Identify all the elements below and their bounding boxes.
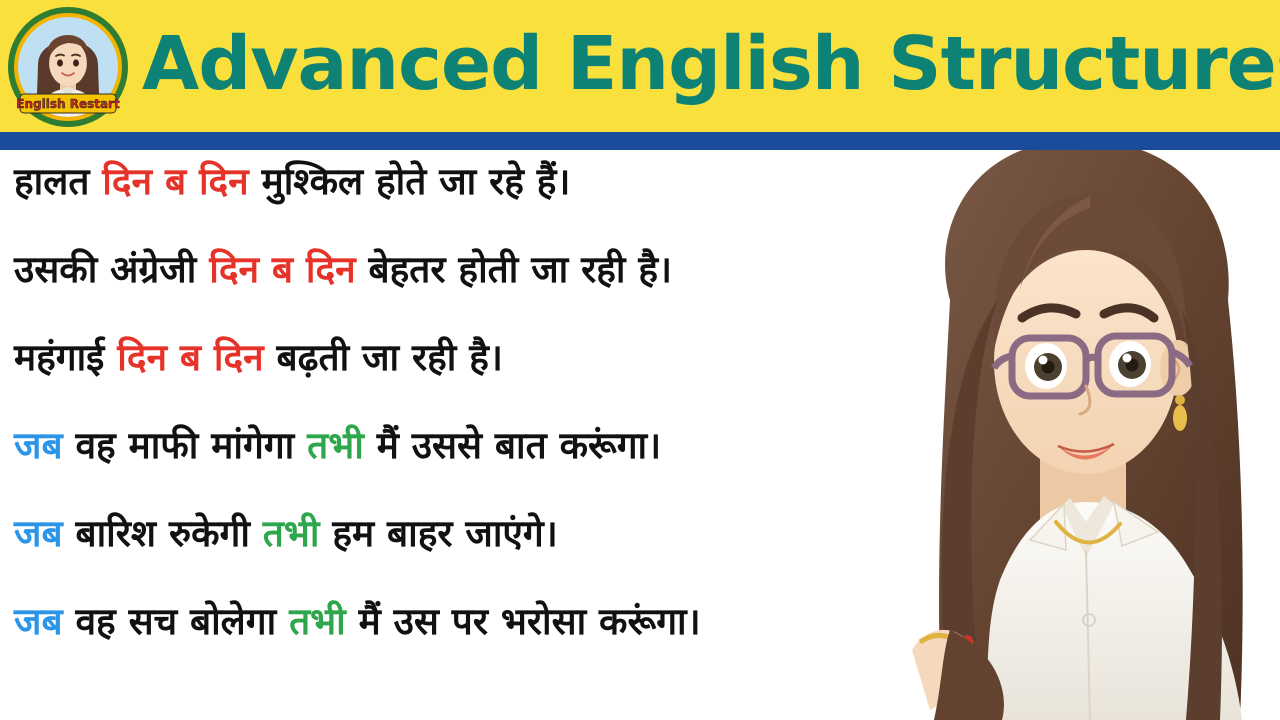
header-divider [0,132,1280,150]
sentence-1-part-3: मुश्किल होते जा रहे हैं। [249,160,571,203]
header-bar: English Restart Advanced English Structu… [0,0,1280,132]
logo-brand-label: English Restart [16,97,120,111]
sentence-line-1: हालत दिन ब दिन मुश्किल होते जा रहे हैं। [14,162,1074,202]
sentence-3-part-1: महंगाई [14,336,117,379]
content-area: हालत दिन ब दिन मुश्किल होते जा रहे हैं। … [0,150,1280,720]
sentence-5-highlight-green: तभी [263,512,320,555]
sentence-3-part-3: बढ़ती जा रही है। [264,336,503,379]
channel-logo: English Restart [6,5,130,129]
sentence-2-part-3: बेहतर होती जा रही है। [356,248,672,291]
sentence-4-highlight-green: तभी [307,424,364,467]
sentence-4-highlight-blue: जब [14,424,63,467]
page-title: Advanced English Structures [130,27,1280,105]
sentence-2-part-1: उसकी अंग्रेजी [14,248,209,291]
sentence-5-part-2: बारिश रुकेगी [63,512,263,555]
channel-logo-icon: English Restart [6,5,130,129]
sentence-1-part-1: हालत [14,160,102,203]
sentence-6-highlight-blue: जब [14,600,63,643]
sentence-line-3: महंगाई दिन ब दिन बढ़ती जा रही है। [14,338,1074,378]
sentence-2-highlight: दिन ब दिन [209,248,355,291]
sentence-6-highlight-green: तभी [289,600,346,643]
video-thumbnail-screen: English Restart Advanced English Structu… [0,0,1280,720]
sentence-5-highlight-blue: जब [14,512,63,555]
sentence-line-6: जब वह सच बोलेगा तभी मैं उस पर भरोसा करूं… [14,602,1074,642]
logo-brand-text: English Restart [16,94,120,113]
sentence-list: हालत दिन ब दिन मुश्किल होते जा रहे हैं। … [14,162,1074,642]
sentence-line-2: उसकी अंग्रेजी दिन ब दिन बेहतर होती जा रह… [14,250,1074,290]
sentence-1-highlight: दिन ब दिन [102,160,248,203]
sentence-line-5: जब बारिश रुकेगी तभी हम बाहर जाएंगे। [14,514,1074,554]
sentence-4-part-4: मैं उससे बात करूंगा। [364,424,661,467]
sentence-6-part-2: वह सच बोलेगा [63,600,289,643]
sentence-line-4: जब वह माफी मांगेगा तभी मैं उससे बात करूं… [14,426,1074,466]
sentence-4-part-2: वह माफी मांगेगा [63,424,308,467]
sentence-5-part-4: हम बाहर जाएंगे। [319,512,557,555]
sentence-3-highlight: दिन ब दिन [117,336,263,379]
sentence-6-part-4: मैं उस पर भरोसा करूंगा। [346,600,701,643]
